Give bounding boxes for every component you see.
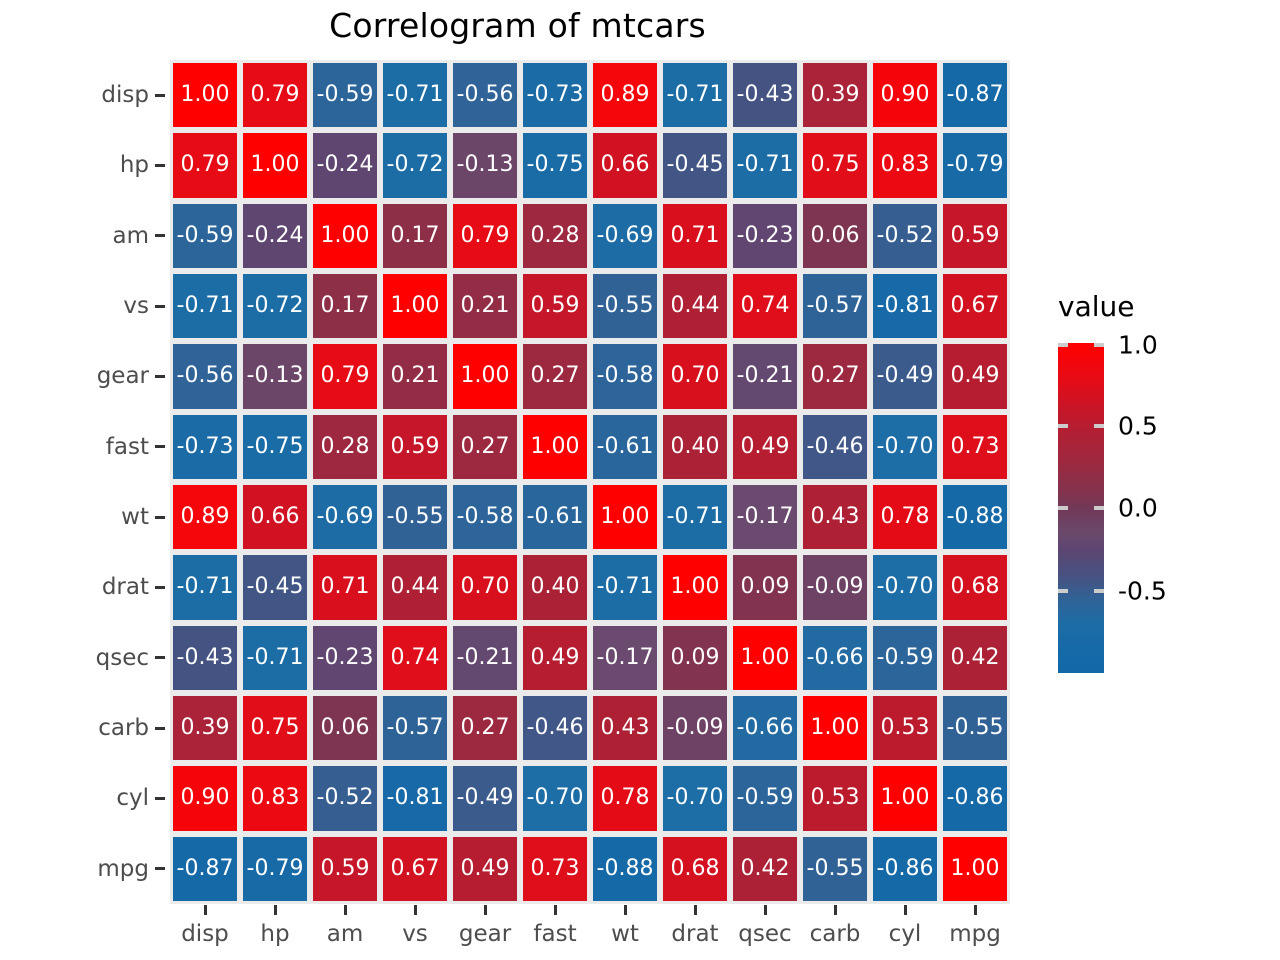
heatmap-cell-value: 0.17 <box>391 225 440 247</box>
heatmap-cell: -0.72 <box>380 130 450 200</box>
heatmap-cell: -0.81 <box>380 763 450 833</box>
heatmap-cell-value: 0.43 <box>811 506 860 528</box>
heatmap-cell: 0.40 <box>660 412 730 482</box>
heatmap-cell: -0.59 <box>170 201 240 271</box>
heatmap-cell: -0.61 <box>590 412 660 482</box>
heatmap-cell-value: 0.78 <box>881 506 930 528</box>
heatmap-cell-value: 0.53 <box>811 787 860 809</box>
heatmap-cell: -0.70 <box>870 412 940 482</box>
heatmap-cell: 0.66 <box>240 482 310 552</box>
y-axis-tick-qsec: qsec <box>0 623 170 693</box>
x-axis-tick-wt: wt <box>590 904 660 960</box>
heatmap-cell-value: -0.71 <box>597 576 654 598</box>
y-axis-tick-disp: disp <box>0 60 170 130</box>
heatmap-cell-value: -0.17 <box>737 506 794 528</box>
heatmap-cell: 0.39 <box>800 60 870 130</box>
x-axis-tick-gear: gear <box>450 904 520 960</box>
heatmap-cell: 0.42 <box>730 834 800 904</box>
x-axis-tick-mark <box>414 905 417 915</box>
heatmap-cell-value: -0.88 <box>597 858 654 880</box>
heatmap-cell-value: 0.66 <box>601 154 650 176</box>
x-axis-tick-carb: carb <box>800 904 870 960</box>
legend-tick-mark <box>1094 424 1104 428</box>
heatmap-cell: 0.73 <box>940 412 1010 482</box>
x-axis-tick-mark <box>554 905 557 915</box>
heatmap-cell-value: -0.79 <box>247 858 304 880</box>
y-axis-tick-mark <box>155 94 165 97</box>
heatmap-cell: 0.83 <box>870 130 940 200</box>
heatmap-cell-value: -0.79 <box>947 154 1004 176</box>
heatmap-cell: 0.27 <box>450 693 520 763</box>
heatmap-cell: -0.88 <box>590 834 660 904</box>
heatmap-cell-value: 0.44 <box>671 295 720 317</box>
y-axis-tick-mark <box>155 164 165 167</box>
heatmap-cell-value: 1.00 <box>811 717 860 739</box>
heatmap-cell-value: 0.53 <box>881 717 930 739</box>
heatmap-cell: -0.58 <box>590 341 660 411</box>
heatmap-cell: 0.49 <box>450 834 520 904</box>
heatmap-cell-value: 0.74 <box>391 647 440 669</box>
y-axis-tick-label: drat <box>102 574 149 600</box>
heatmap-cell-value: 0.39 <box>181 717 230 739</box>
heatmap-cell-value: -0.55 <box>807 858 864 880</box>
heatmap-cell-value: 0.27 <box>531 365 580 387</box>
x-axis-tick-mark <box>764 905 767 915</box>
heatmap-cell-value: -0.43 <box>737 84 794 106</box>
heatmap-cell-value: 0.78 <box>601 787 650 809</box>
heatmap-cell-value: 0.27 <box>811 365 860 387</box>
heatmap-cell-value: -0.66 <box>807 647 864 669</box>
heatmap-cell: -0.52 <box>870 201 940 271</box>
heatmap-cell-value: -0.55 <box>597 295 654 317</box>
heatmap-cell: -0.43 <box>170 623 240 693</box>
y-axis-tick-am: am <box>0 201 170 271</box>
heatmap-cell: -0.23 <box>730 201 800 271</box>
heatmap-cell-value: 0.59 <box>531 295 580 317</box>
heatmap-cell: 0.17 <box>310 271 380 341</box>
heatmap-cell-value: -0.45 <box>667 154 724 176</box>
heatmap-cell-value: 0.49 <box>461 858 510 880</box>
heatmap-cell-value: -0.61 <box>527 506 584 528</box>
heatmap-cell-value: 0.71 <box>671 225 720 247</box>
x-axis-tick-mark <box>484 905 487 915</box>
heatmap-cell: -0.49 <box>450 763 520 833</box>
heatmap-cell-value: -0.70 <box>527 787 584 809</box>
heatmap-cell: 0.49 <box>730 412 800 482</box>
heatmap-cell: -0.86 <box>940 763 1010 833</box>
heatmap-cell-value: 0.27 <box>461 717 510 739</box>
y-axis-tick-label: cyl <box>116 785 149 811</box>
y-axis-tick-label: wt <box>121 504 149 530</box>
heatmap-cell-value: 1.00 <box>461 365 510 387</box>
heatmap-cell-value: -0.23 <box>317 647 374 669</box>
x-axis-tick-mark <box>344 905 347 915</box>
heatmap-cell: -0.43 <box>730 60 800 130</box>
heatmap-cell: -0.69 <box>590 201 660 271</box>
heatmap-cell: 0.78 <box>590 763 660 833</box>
heatmap-cell-value: 0.73 <box>531 858 580 880</box>
x-axis-tick-drat: drat <box>660 904 730 960</box>
y-axis-tick-vs: vs <box>0 271 170 341</box>
heatmap-cell-value: -0.49 <box>877 365 934 387</box>
x-axis-tick-mark <box>274 905 277 915</box>
y-axis-tick-wt: wt <box>0 482 170 552</box>
heatmap-cell-value: 1.00 <box>601 506 650 528</box>
x-axis-tick-label: wt <box>611 921 639 947</box>
heatmap-cell-value: -0.71 <box>737 154 794 176</box>
heatmap-cell-value: 0.06 <box>321 717 370 739</box>
y-axis-tick-mark <box>155 586 165 589</box>
x-axis-tick-mark <box>694 905 697 915</box>
heatmap-cell: 0.09 <box>660 623 730 693</box>
heatmap-cell-value: -0.73 <box>177 436 234 458</box>
heatmap-cell-value: 0.27 <box>461 436 510 458</box>
heatmap-cell: -0.57 <box>380 693 450 763</box>
legend-tick-mark <box>1058 424 1068 428</box>
heatmap-cell-value: 0.90 <box>181 787 230 809</box>
heatmap-cell: 0.79 <box>170 130 240 200</box>
y-axis-tick-label: disp <box>101 82 149 108</box>
heatmap-cell-value: -0.71 <box>667 506 724 528</box>
heatmap-cell: 0.17 <box>380 201 450 271</box>
heatmap-cell-value: -0.09 <box>667 717 724 739</box>
heatmap-cell: 0.59 <box>310 834 380 904</box>
heatmap-cell: -0.46 <box>520 693 590 763</box>
heatmap-cell: 1.00 <box>800 693 870 763</box>
heatmap-cell: 0.59 <box>940 201 1010 271</box>
heatmap-cell: 0.06 <box>310 693 380 763</box>
y-axis-tick-mark <box>155 867 165 870</box>
heatmap-cell: 0.83 <box>240 763 310 833</box>
heatmap-cell: -0.55 <box>590 271 660 341</box>
y-axis-tick-label: vs <box>123 293 149 319</box>
heatmap-cell: -0.72 <box>240 271 310 341</box>
heatmap-cell-value: 0.74 <box>741 295 790 317</box>
y-axis-tick-label: mpg <box>97 856 149 882</box>
heatmap-cell-value: 1.00 <box>251 154 300 176</box>
heatmap-cell-value: -0.13 <box>247 365 304 387</box>
heatmap-cell-value: 0.49 <box>741 436 790 458</box>
heatmap-cell: 0.09 <box>730 552 800 622</box>
heatmap-cell-value: -0.24 <box>247 225 304 247</box>
x-axis-tick-mark <box>624 905 627 915</box>
y-axis-tick-fast: fast <box>0 412 170 482</box>
heatmap-cell-value: -0.17 <box>597 647 654 669</box>
x-axis-tick-disp: disp <box>170 904 240 960</box>
heatmap-cell: 1.00 <box>240 130 310 200</box>
heatmap-cell: 0.27 <box>520 341 590 411</box>
heatmap-cell: 0.43 <box>590 693 660 763</box>
heatmap-cell-value: 0.59 <box>391 436 440 458</box>
y-axis-tick-label: hp <box>120 152 149 178</box>
heatmap-cell: -0.17 <box>730 482 800 552</box>
heatmap-cell: 1.00 <box>660 552 730 622</box>
heatmap-cell-value: 0.75 <box>251 717 300 739</box>
y-axis-tick-mark <box>155 375 165 378</box>
heatmap-cell-value: -0.71 <box>177 576 234 598</box>
heatmap-cell: -0.79 <box>240 834 310 904</box>
heatmap-cell-value: -0.87 <box>177 858 234 880</box>
x-axis-tick-qsec: qsec <box>730 904 800 960</box>
heatmap-cell-value: 0.89 <box>181 506 230 528</box>
heatmap-cell: -0.24 <box>310 130 380 200</box>
heatmap-cell-value: 0.79 <box>251 84 300 106</box>
heatmap-cell-value: 0.49 <box>951 365 1000 387</box>
y-axis-tick-label: gear <box>97 363 149 389</box>
heatmap-cell: -0.88 <box>940 482 1010 552</box>
heatmap-cell: 0.44 <box>380 552 450 622</box>
heatmap-cell: 0.27 <box>800 341 870 411</box>
heatmap-cell: -0.71 <box>380 60 450 130</box>
heatmap-cell: 0.59 <box>520 271 590 341</box>
heatmap-cell: 0.28 <box>520 201 590 271</box>
x-axis-tick-label: gear <box>459 921 511 947</box>
heatmap-cell-value: 0.42 <box>951 647 1000 669</box>
heatmap-cell-value: 0.79 <box>461 225 510 247</box>
heatmap-cell: 0.73 <box>520 834 590 904</box>
heatmap-cell-value: -0.86 <box>947 787 1004 809</box>
heatmap-cell: 0.90 <box>170 763 240 833</box>
heatmap-cell: 0.79 <box>240 60 310 130</box>
heatmap-cell: 1.00 <box>940 834 1010 904</box>
heatmap-cell-value: -0.57 <box>387 717 444 739</box>
heatmap-cell-value: 0.39 <box>811 84 860 106</box>
x-axis-tick-label: cyl <box>889 921 922 947</box>
heatmap-cell-value: 1.00 <box>741 647 790 669</box>
heatmap-cell-value: -0.69 <box>597 225 654 247</box>
heatmap-cell-value: -0.71 <box>177 295 234 317</box>
x-axis-tick-cyl: cyl <box>870 904 940 960</box>
heatmap-cell: 0.74 <box>380 623 450 693</box>
x-axis-tick-label: mpg <box>949 921 1001 947</box>
y-axis-tick-mark <box>155 656 165 659</box>
heatmap-cell-value: -0.61 <box>597 436 654 458</box>
heatmap-cell-value: 0.42 <box>741 858 790 880</box>
heatmap-cell-value: -0.59 <box>317 84 374 106</box>
legend-tick-mark <box>1094 506 1104 510</box>
heatmap-cell-value: 0.17 <box>321 295 370 317</box>
x-axis-tick-mark <box>204 905 207 915</box>
heatmap-cell: 0.67 <box>940 271 1010 341</box>
heatmap-cell-value: -0.75 <box>247 436 304 458</box>
correlogram-plot: Correlogram of mtcars disphpamvsgearfast… <box>0 0 1280 960</box>
heatmap-cell-value: 0.68 <box>671 858 720 880</box>
legend-tick-mark <box>1094 343 1104 347</box>
heatmap-cell-value: 0.44 <box>391 576 440 598</box>
heatmap-cell-value: 0.73 <box>951 436 1000 458</box>
heatmap-cell-value: 0.09 <box>671 647 720 669</box>
legend-tick-label: 1.0 <box>1118 331 1158 360</box>
heatmap-cell-value: -0.58 <box>457 506 514 528</box>
y-axis: disphpamvsgearfastwtdratqseccarbcylmpg <box>0 60 170 904</box>
heatmap-cell-value: 1.00 <box>391 295 440 317</box>
heatmap-cell: -0.09 <box>660 693 730 763</box>
heatmap-cell: -0.70 <box>520 763 590 833</box>
heatmap-cell: -0.71 <box>730 130 800 200</box>
x-axis-tick-label: am <box>327 921 364 947</box>
x-axis-tick-label: drat <box>671 921 718 947</box>
heatmap-cell: -0.75 <box>520 130 590 200</box>
heatmap-cell-value: 1.00 <box>671 576 720 598</box>
heatmap-cell-value: 0.67 <box>391 858 440 880</box>
y-axis-tick-mark <box>155 516 165 519</box>
heatmap-cell-value: 0.21 <box>461 295 510 317</box>
heatmap-cell-value: -0.55 <box>387 506 444 528</box>
heatmap-cell-value: 0.71 <box>321 576 370 598</box>
heatmap-cell-value: -0.69 <box>317 506 374 528</box>
heatmap-cell-value: -0.46 <box>807 436 864 458</box>
heatmap-cell-value: 1.00 <box>181 84 230 106</box>
heatmap-cell-value: -0.87 <box>947 84 1004 106</box>
heatmap-cell-value: -0.86 <box>877 858 934 880</box>
heatmap-cell: -0.21 <box>450 623 520 693</box>
legend-tick-label: -0.5 <box>1118 576 1167 605</box>
y-axis-tick-hp: hp <box>0 130 170 200</box>
heatmap-cell: 0.49 <box>940 341 1010 411</box>
heatmap-cell: -0.24 <box>240 201 310 271</box>
heatmap-cell: -0.61 <box>520 482 590 552</box>
heatmap-cell-value: 0.75 <box>811 154 860 176</box>
heatmap-cell: 0.79 <box>450 201 520 271</box>
heatmap-cell: 0.40 <box>520 552 590 622</box>
heatmap-cell-value: -0.49 <box>457 787 514 809</box>
heatmap-cell: 0.06 <box>800 201 870 271</box>
heatmap-cell: -0.09 <box>800 552 870 622</box>
heatmap-cell-value: 0.67 <box>951 295 1000 317</box>
x-axis-tick-label: hp <box>260 921 289 947</box>
heatmap-cell: -0.86 <box>870 834 940 904</box>
heatmap-cell-value: -0.21 <box>737 365 794 387</box>
heatmap-cell-value: 0.66 <box>251 506 300 528</box>
heatmap-cell: 0.44 <box>660 271 730 341</box>
heatmap-cell: 1.00 <box>520 412 590 482</box>
x-axis-tick-mark <box>834 905 837 915</box>
heatmap-cell: -0.55 <box>380 482 450 552</box>
heatmap-cell-value: 0.28 <box>321 436 370 458</box>
heatmap-cell: 0.42 <box>940 623 1010 693</box>
heatmap-cell: -0.52 <box>310 763 380 833</box>
heatmap-cell-value: -0.56 <box>457 84 514 106</box>
heatmap-cell: 1.00 <box>310 201 380 271</box>
y-axis-tick-carb: carb <box>0 693 170 763</box>
heatmap-cell: 0.70 <box>660 341 730 411</box>
heatmap-cell-value: -0.56 <box>177 365 234 387</box>
legend-tick-label: 0.0 <box>1118 494 1158 523</box>
heatmap-cell: 0.78 <box>870 482 940 552</box>
heatmap-cell: -0.73 <box>170 412 240 482</box>
y-axis-tick-gear: gear <box>0 341 170 411</box>
heatmap-cell: -0.21 <box>730 341 800 411</box>
heatmap-cell: -0.56 <box>450 60 520 130</box>
heatmap-cell-value: 0.28 <box>531 225 580 247</box>
heatmap-cell: -0.58 <box>450 482 520 552</box>
heatmap-cell-value: 1.00 <box>531 436 580 458</box>
heatmap-cell: 0.59 <box>380 412 450 482</box>
heatmap-cell-value: -0.43 <box>177 647 234 669</box>
y-axis-tick-label: fast <box>106 434 149 460</box>
heatmap-cell-value: 0.68 <box>951 576 1000 598</box>
heatmap-cell-value: 0.79 <box>321 365 370 387</box>
heatmap-cell: 0.28 <box>310 412 380 482</box>
heatmap-cell: 0.21 <box>380 341 450 411</box>
legend-tick-mark <box>1058 589 1068 593</box>
heatmap-cell-value: 0.59 <box>321 858 370 880</box>
heatmap-cell-value: -0.71 <box>667 84 724 106</box>
heatmap-cell-value: 0.43 <box>601 717 650 739</box>
heatmap-cell: -0.71 <box>240 623 310 693</box>
heatmap-cell: 0.90 <box>870 60 940 130</box>
heatmap-cell-value: -0.73 <box>527 84 584 106</box>
heatmap-cell-value: 1.00 <box>951 858 1000 880</box>
heatmap-cell-value: 0.40 <box>531 576 580 598</box>
heatmap-cell: 0.43 <box>800 482 870 552</box>
heatmap-cell-value: 0.59 <box>951 225 1000 247</box>
heatmap-cell: -0.81 <box>870 271 940 341</box>
chart-title: Correlogram of mtcars <box>0 6 1035 45</box>
heatmap-cell: -0.17 <box>590 623 660 693</box>
heatmap-cell: 0.66 <box>590 130 660 200</box>
y-axis-tick-mark <box>155 234 165 237</box>
x-axis-tick-label: vs <box>402 921 428 947</box>
heatmap-cell: 0.75 <box>800 130 870 200</box>
heatmap-cell-value: -0.70 <box>877 436 934 458</box>
heatmap-cell-value: 1.00 <box>881 787 930 809</box>
heatmap-cell: 0.49 <box>520 623 590 693</box>
heatmap-cell: 0.68 <box>660 834 730 904</box>
heatmap-cell: 0.71 <box>310 552 380 622</box>
heatmap-cell: 0.79 <box>310 341 380 411</box>
heatmap-cell: -0.75 <box>240 412 310 482</box>
heatmap-cell: -0.70 <box>660 763 730 833</box>
heatmap-cell-value: -0.13 <box>457 154 514 176</box>
heatmap-cell-value: 1.00 <box>321 225 370 247</box>
heatmap-cell: -0.66 <box>730 693 800 763</box>
heatmap-cell: 0.75 <box>240 693 310 763</box>
heatmap-cell: -0.71 <box>590 552 660 622</box>
x-axis-tick-vs: vs <box>380 904 450 960</box>
heatmap-cell-value: 0.06 <box>811 225 860 247</box>
x-axis-tick-hp: hp <box>240 904 310 960</box>
legend-tick-mark <box>1058 506 1068 510</box>
heatmap-cell-value: -0.59 <box>877 647 934 669</box>
heatmap-cell: -0.45 <box>660 130 730 200</box>
heatmap-cell: 0.53 <box>800 763 870 833</box>
heatmap-cell: 1.00 <box>450 341 520 411</box>
heatmap-cell: -0.73 <box>520 60 590 130</box>
heatmap-cell: 0.70 <box>450 552 520 622</box>
heatmap-cell-value: 0.49 <box>531 647 580 669</box>
y-axis-tick-drat: drat <box>0 552 170 622</box>
heatmap-cell-value: -0.75 <box>527 154 584 176</box>
heatmap-cell: 0.53 <box>870 693 940 763</box>
heatmap-cell-value: -0.70 <box>877 576 934 598</box>
heatmap-cell-value: -0.71 <box>247 647 304 669</box>
x-axis-tick-fast: fast <box>520 904 590 960</box>
heatmap-cell-value: -0.81 <box>387 787 444 809</box>
heatmap-cell: -0.79 <box>940 130 1010 200</box>
heatmap-cell: -0.55 <box>940 693 1010 763</box>
heatmap-cell: 0.89 <box>590 60 660 130</box>
x-axis-tick-am: am <box>310 904 380 960</box>
y-axis-tick-label: qsec <box>96 645 149 671</box>
heatmap-cell: -0.71 <box>170 552 240 622</box>
x-axis-tick-label: disp <box>181 921 229 947</box>
x-axis-tick-mark <box>974 905 977 915</box>
heatmap-cell: -0.69 <box>310 482 380 552</box>
heatmap-cell: -0.46 <box>800 412 870 482</box>
heatmap-cell: 1.00 <box>870 763 940 833</box>
y-axis-tick-mpg: mpg <box>0 834 170 904</box>
